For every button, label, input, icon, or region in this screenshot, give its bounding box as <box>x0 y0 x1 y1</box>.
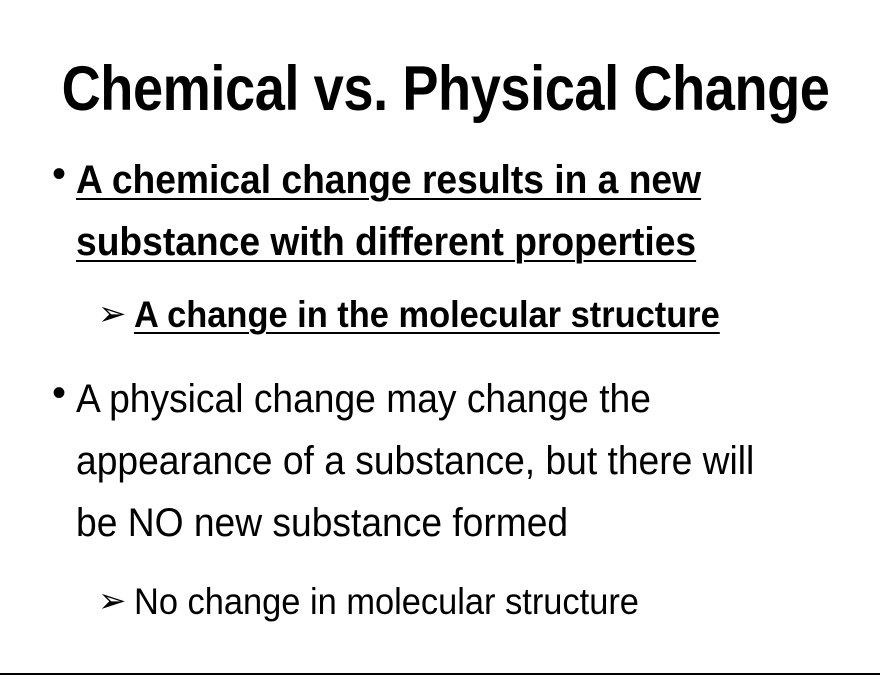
bullet-arrow-icon: ➢ <box>98 577 134 626</box>
bullet-dot-icon: • <box>52 149 76 200</box>
list-item[interactable]: • A physical change may change the appea… <box>52 368 852 554</box>
list-item-text-underlined: A chemical change results in a new subst… <box>76 158 701 264</box>
list-item-text-underlined: A change in the molecular structure <box>134 294 720 335</box>
list-item-text: A change in the molecular structure <box>134 289 802 342</box>
slide-body-list: • A chemical change results in a new sub… <box>52 149 852 628</box>
slide-canvas: Chemical vs. Physical Change • A chemica… <box>0 0 880 681</box>
bullet-arrow-icon: ➢ <box>98 290 134 339</box>
list-item-text: No change in molecular structure <box>134 576 802 629</box>
list-item[interactable]: ➢ No change in molecular structure <box>52 576 852 629</box>
slide-bottom-divider <box>0 673 880 675</box>
list-item-text: A physical change may change the appeara… <box>76 368 798 554</box>
list-item-text: A chemical change results in a new subst… <box>76 149 798 273</box>
bullet-dot-icon: • <box>52 368 76 419</box>
list-item[interactable]: ➢ A change in the molecular structure <box>52 289 852 342</box>
page-title: Chemical vs. Physical Change <box>62 56 819 122</box>
list-item[interactable]: • A chemical change results in a new sub… <box>52 149 852 273</box>
